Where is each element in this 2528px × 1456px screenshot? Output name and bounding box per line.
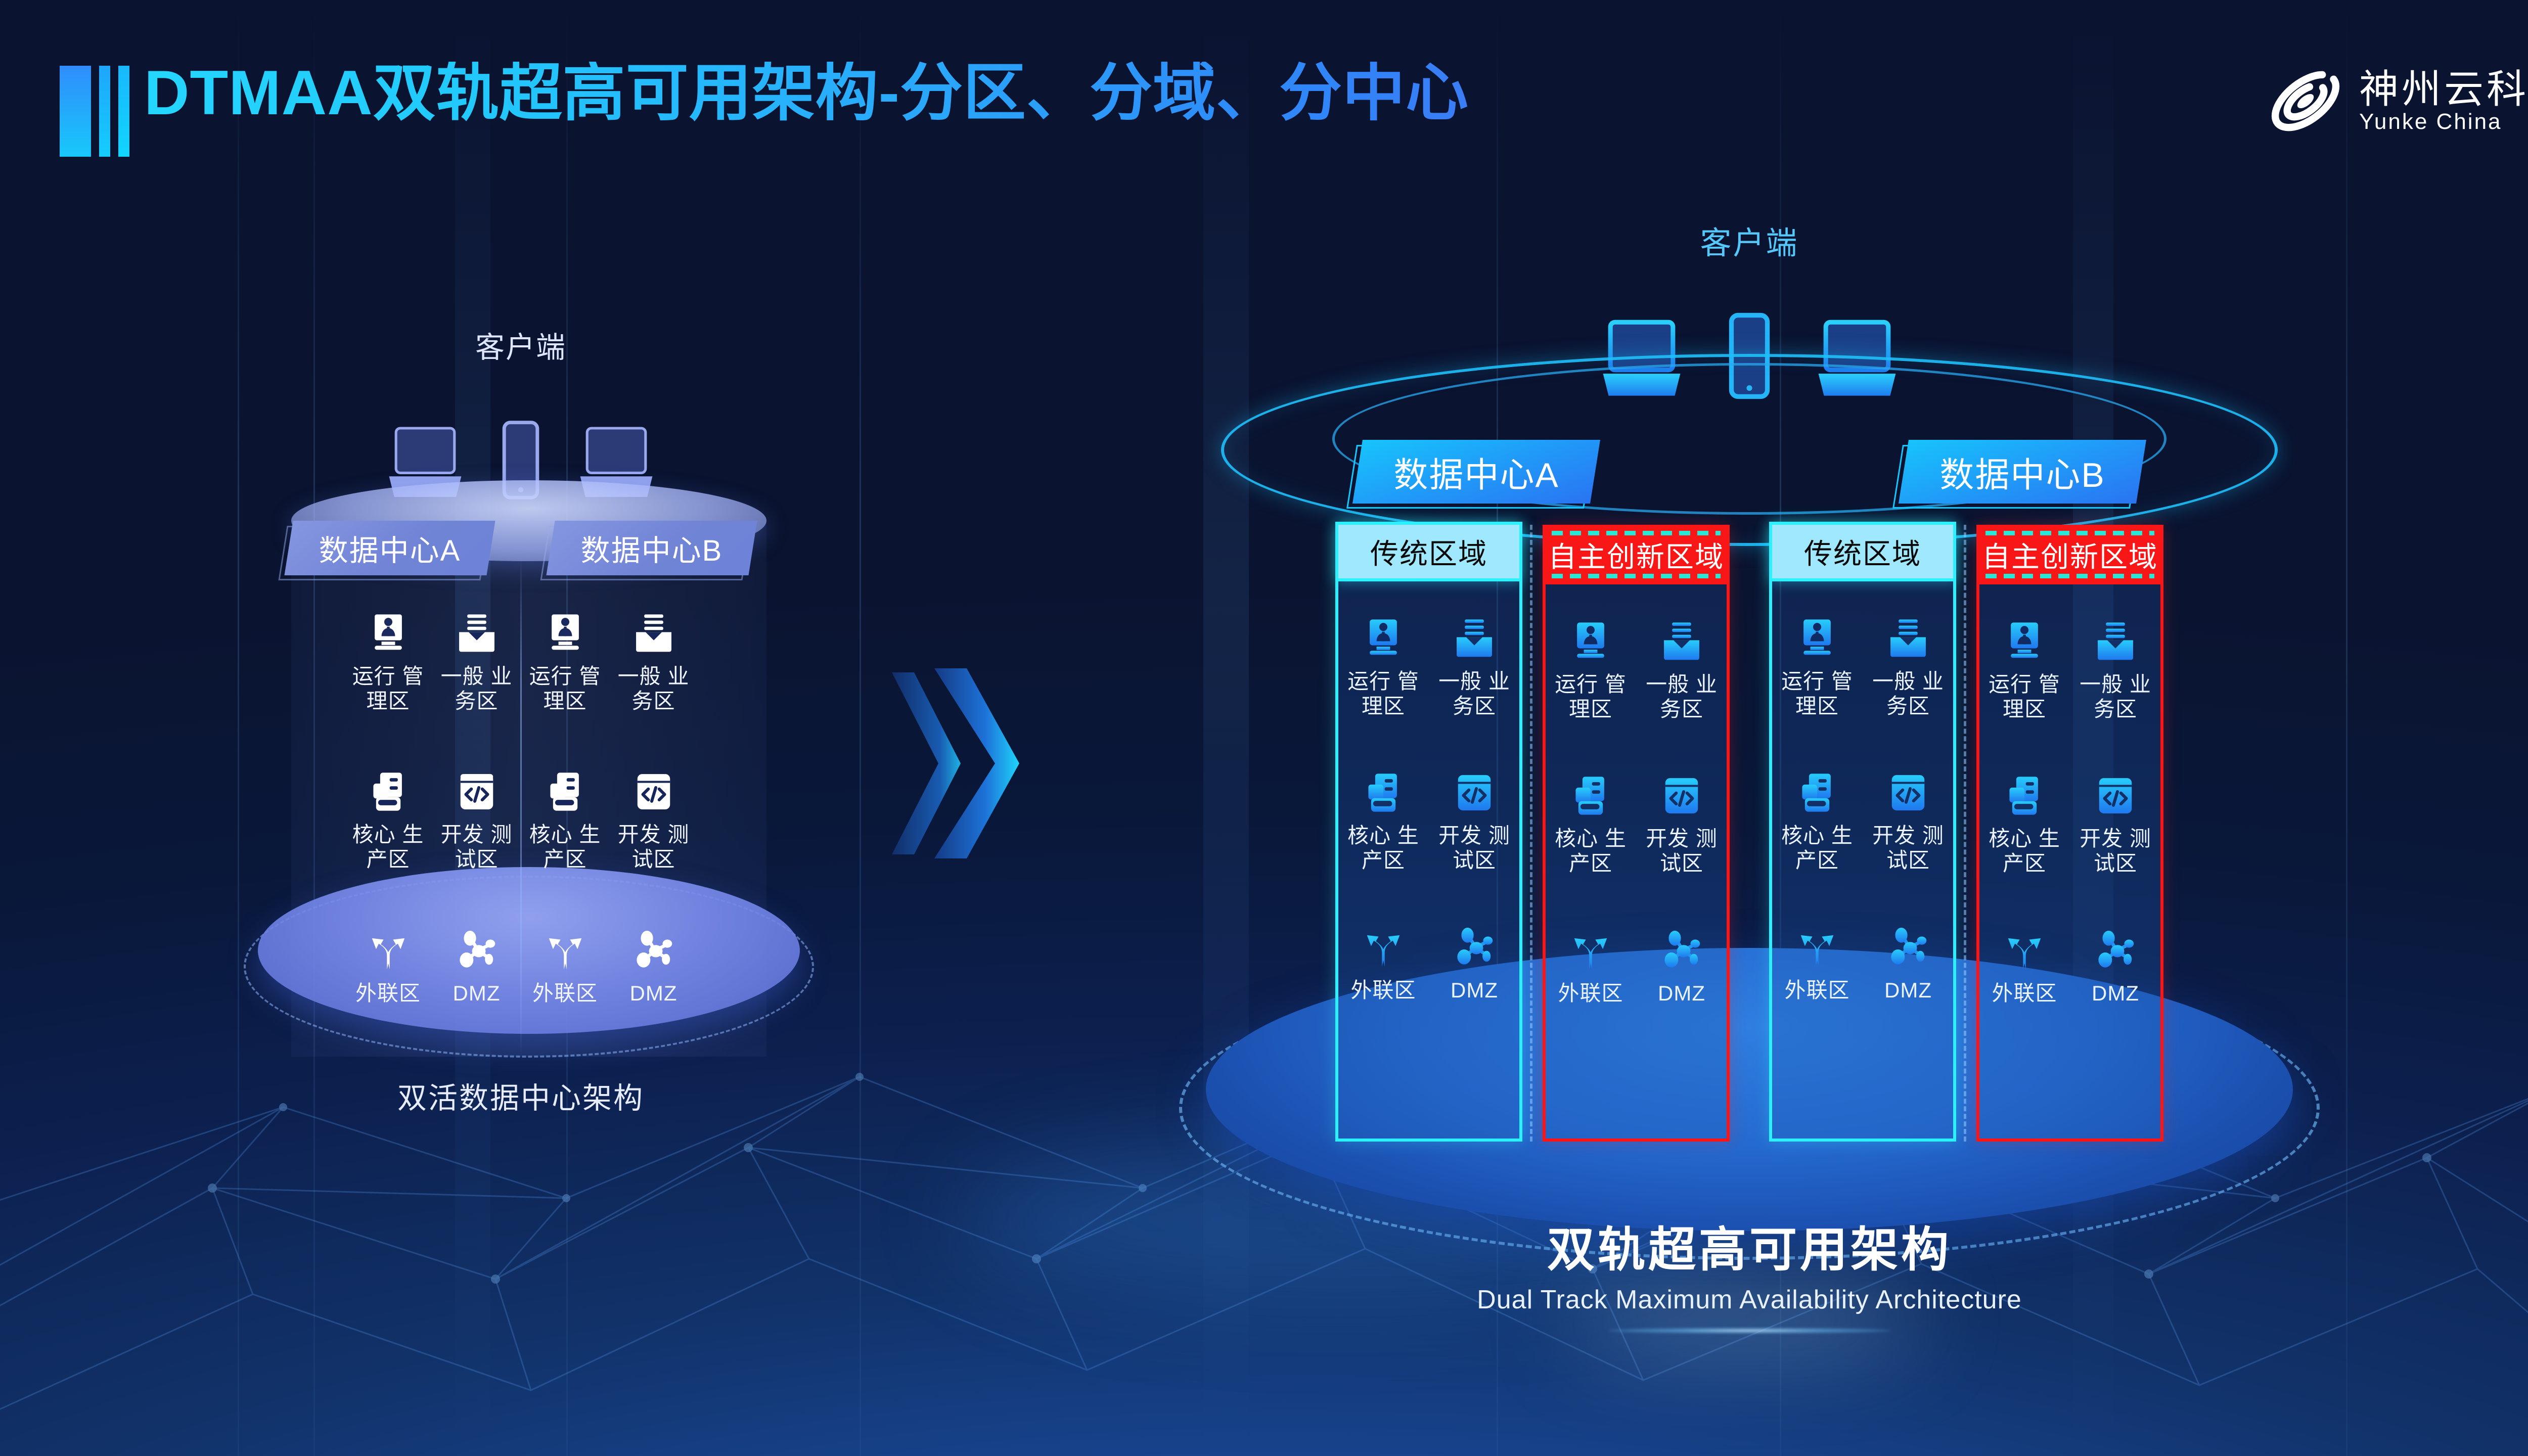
code-brackets-icon <box>455 770 499 813</box>
zone-cell[interactable]: 开发 测试区 <box>432 770 521 872</box>
zone-cell[interactable]: 外联区 <box>521 929 609 1006</box>
branch-arrows-icon <box>2003 929 2046 972</box>
zone-label: 开发 测试区 <box>1430 824 1519 873</box>
zone-label: 一般 业务区 <box>1430 669 1519 718</box>
datacenter-tag-a-label: 数据中心A <box>319 527 461 569</box>
user-monitor-icon <box>1362 617 1405 660</box>
branch-arrows-icon <box>544 929 587 972</box>
zone-label: 核心 生产区 <box>1339 824 1428 873</box>
zone-cell[interactable]: 运行 管理区 <box>521 612 609 713</box>
network-nodes-icon <box>1886 926 1930 969</box>
zone-cell[interactable]: 核心 生产区 <box>344 770 432 872</box>
zone-label: DMZ <box>630 981 678 1006</box>
zone-cell[interactable]: 外联区 <box>344 929 432 1006</box>
inbox-tray-icon <box>2094 620 2137 663</box>
zone-cell[interactable]: DMZ <box>1430 926 1519 1003</box>
zone-label: 一般 业务区 <box>609 664 698 713</box>
code-brackets-icon <box>1453 771 1496 814</box>
caption-english: Dual Track Maximum Availability Architec… <box>1001 1285 2498 1315</box>
zone-label: 外联区 <box>1784 978 1849 1003</box>
zone-cell[interactable]: 运行 管理区 <box>344 612 432 713</box>
zone-cell[interactable]: DMZ <box>609 929 698 1006</box>
right-diagram-caption: 双轨超高可用架构 Dual Track Maximum Availability… <box>1001 1223 2498 1333</box>
datacenter-a-panels: 传统区域 运行 管理区 <box>1335 525 1730 1142</box>
user-monitor-icon <box>2003 620 2046 663</box>
accent-bar-1 <box>60 66 91 157</box>
inbox-tray-icon <box>632 612 675 655</box>
zone-label: 运行 管理区 <box>1773 669 1862 718</box>
branch-arrows-icon <box>1569 929 1612 972</box>
zone-cell[interactable]: 一般 业务区 <box>1430 617 1519 718</box>
datacenter-tag-a-label: 数据中心A <box>1393 447 1559 497</box>
panel-header: 自主创新区域 <box>1543 525 1730 584</box>
zone-cell[interactable]: 运行 管理区 <box>1339 617 1428 718</box>
brand-logo: 神州云科 Yunke China <box>2265 61 2528 142</box>
zone-label: 运行 管理区 <box>344 664 432 713</box>
code-brackets-icon <box>1660 774 1703 817</box>
zone-label: 开发 测试区 <box>1638 827 1726 876</box>
zone-cell[interactable]: 开发 测试区 <box>1638 774 1726 876</box>
user-monitor-icon <box>544 612 587 655</box>
network-nodes-icon <box>455 929 499 972</box>
zone-cell[interactable]: DMZ <box>432 929 521 1006</box>
zone-cell[interactable]: 开发 测试区 <box>1430 771 1519 873</box>
zone-cell[interactable]: 核心 生产区 <box>1773 771 1862 873</box>
title-accent-bars <box>60 66 129 157</box>
panel-innovation-b[interactable]: 自主创新区域 运行 管理区 <box>1976 525 2163 1142</box>
datacenter-tag-b[interactable]: 数据中心B <box>1904 440 2141 504</box>
zone-label: 外联区 <box>1350 978 1416 1003</box>
zone-label: DMZ <box>2092 981 2139 1006</box>
zone-cell[interactable]: 运行 管理区 <box>1773 617 1862 718</box>
logo-english-name: Yunke China <box>2359 111 2528 133</box>
left-client-title: 客户端 <box>167 324 875 366</box>
server-rack-icon <box>1795 771 1839 814</box>
zone-label: 开发 测试区 <box>432 823 521 872</box>
inbox-tray-icon <box>455 612 499 655</box>
zone-label: 外联区 <box>355 981 421 1006</box>
left-zone-columns: 运行 管理区 一般 业务区 核心 生产区 <box>167 612 875 1006</box>
zone-label: 外联区 <box>532 981 598 1006</box>
inbox-tray-icon <box>1453 617 1496 660</box>
accent-bar-3 <box>118 66 129 157</box>
zone-cell[interactable]: 外联区 <box>1547 929 1635 1006</box>
zone-cell[interactable]: 一般 业务区 <box>2071 620 2160 721</box>
left-diagram-caption: 双活数据中心架构 <box>167 1074 875 1117</box>
zone-label: 核心 生产区 <box>1773 824 1862 873</box>
panel-traditional-a[interactable]: 传统区域 运行 管理区 <box>1335 525 1522 1142</box>
zone-cell[interactable]: 外联区 <box>1339 926 1428 1003</box>
zone-label: 运行 管理区 <box>1339 669 1428 718</box>
zone-cell[interactable]: 外联区 <box>1773 926 1862 1003</box>
datacenter-tag-a[interactable]: 数据中心A <box>289 521 491 575</box>
zone-label: 一般 业务区 <box>1638 672 1726 721</box>
legacy-architecture-diagram: 客户端 数据中心A 数据中心B <box>167 324 875 1213</box>
network-nodes-icon <box>632 929 675 972</box>
user-monitor-icon <box>1569 620 1612 663</box>
datacenter-tag-b[interactable]: 数据中心B <box>551 521 753 575</box>
zone-cell[interactable]: 核心 生产区 <box>1980 774 2069 876</box>
right-datacenter-tags: 数据中心A 数据中心B <box>1001 440 2498 504</box>
zone-label: 一般 业务区 <box>2071 672 2160 721</box>
server-rack-icon <box>1569 774 1612 817</box>
code-brackets-icon <box>2094 774 2137 817</box>
datacenter-tag-a[interactable]: 数据中心A <box>1358 440 1595 504</box>
server-rack-icon <box>544 770 587 813</box>
caption-chinese: 双轨超高可用架构 <box>1001 1223 2498 1276</box>
zone-label: DMZ <box>1658 981 1705 1006</box>
accent-bar-2 <box>99 66 110 157</box>
zone-label: 运行 管理区 <box>1980 672 2069 721</box>
left-datacenter-tags: 数据中心A 数据中心B <box>167 521 875 575</box>
zone-cell[interactable]: 一般 业务区 <box>1864 617 1953 718</box>
left-zone-column-a: 运行 管理区 一般 业务区 核心 生产区 <box>344 612 521 1006</box>
server-rack-icon <box>1362 771 1405 814</box>
user-monitor-icon <box>1795 617 1839 660</box>
zone-panels: 传统区域 运行 管理区 <box>1001 525 2498 1142</box>
branch-arrows-icon <box>367 929 410 972</box>
zone-cell[interactable]: 开发 测试区 <box>2071 774 2160 876</box>
panel-innovation-a[interactable]: 自主创新区域 运行 管理区 <box>1543 525 1730 1142</box>
zone-cell[interactable]: 一般 业务区 <box>1638 620 1726 721</box>
zone-cell[interactable]: 核心 生产区 <box>1547 774 1635 876</box>
datacenter-tag-b-label: 数据中心B <box>581 527 723 569</box>
zone-label: 开发 测试区 <box>1864 824 1953 873</box>
branch-arrows-icon <box>1795 926 1839 969</box>
zone-cell[interactable]: 外联区 <box>1980 929 2069 1006</box>
zone-cell[interactable]: 运行 管理区 <box>1547 620 1635 721</box>
code-brackets-icon <box>632 770 675 813</box>
right-client-title: 客户端 <box>1001 217 2498 263</box>
zone-label: DMZ <box>1884 978 1932 1003</box>
user-monitor-icon <box>367 612 410 655</box>
code-brackets-icon <box>1886 771 1930 814</box>
zone-label: 外联区 <box>1558 981 1623 1006</box>
panel-traditional-b[interactable]: 传统区域 运行 管理区 <box>1769 525 1956 1142</box>
left-zone-column-b: 运行 管理区 一般 业务区 核心 生产区 <box>521 612 698 1006</box>
zone-label: 核心 生产区 <box>521 823 609 872</box>
logo-chinese-name: 神州云科 <box>2359 69 2528 109</box>
panel-header: 自主创新区域 <box>1976 525 2163 584</box>
zone-cell[interactable]: 开发 测试区 <box>609 770 698 872</box>
zone-cell[interactable]: DMZ <box>1864 926 1953 1003</box>
page-title: DTMAA双轨超高可用架构-分区、分域、分中心 <box>144 62 1469 124</box>
zone-label: 开发 测试区 <box>609 823 698 872</box>
inbox-tray-icon <box>1660 620 1703 663</box>
zone-label: DMZ <box>453 981 501 1006</box>
zone-label: 核心 生产区 <box>1547 827 1635 876</box>
zone-label: 核心 生产区 <box>344 823 432 872</box>
zone-cell[interactable]: 开发 测试区 <box>1864 771 1953 873</box>
zone-label: 一般 业务区 <box>432 664 521 713</box>
zone-cell[interactable]: 核心 生产区 <box>1339 771 1428 873</box>
zone-label: 开发 测试区 <box>2071 827 2160 876</box>
zone-cell[interactable]: 一般 业务区 <box>432 612 521 713</box>
zone-cell[interactable]: DMZ <box>2071 929 2160 1006</box>
zone-label: 一般 业务区 <box>1864 669 1953 718</box>
zone-label: 运行 管理区 <box>521 664 609 713</box>
server-rack-icon <box>2003 774 2046 817</box>
datacenter-b-panels: 传统区域 运行 管理区 <box>1769 525 2163 1142</box>
panel-header: 传统区域 <box>1335 522 1522 581</box>
network-nodes-icon <box>2094 929 2137 972</box>
zone-cell[interactable]: 核心 生产区 <box>521 770 609 872</box>
zone-label: 运行 管理区 <box>1547 672 1635 721</box>
page-header: DTMAA双轨超高可用架构-分区、分域、分中心 神州云科 Yunke China <box>0 0 2528 167</box>
zone-cell[interactable]: 运行 管理区 <box>1980 620 2069 721</box>
server-rack-icon <box>367 770 410 813</box>
inbox-tray-icon <box>1886 617 1930 660</box>
dtmaa-architecture-diagram: 客户端 数据中心A 数据中心B <box>1001 202 2498 1244</box>
zone-cell[interactable]: 一般 业务区 <box>609 612 698 713</box>
branch-arrows-icon <box>1362 926 1405 969</box>
network-nodes-icon <box>1453 926 1496 969</box>
zone-label: 核心 生产区 <box>1980 827 2069 876</box>
datacenter-tag-b-label: 数据中心B <box>1939 447 2105 497</box>
spiral-swoosh-icon <box>2265 61 2346 142</box>
network-nodes-icon <box>1660 929 1703 972</box>
zone-label: 外联区 <box>1992 981 2057 1006</box>
panel-header: 传统区域 <box>1769 522 1956 581</box>
zone-cell[interactable]: DMZ <box>1638 929 1726 1006</box>
zone-label: DMZ <box>1451 978 1498 1003</box>
caption-flare <box>1608 1328 1891 1333</box>
